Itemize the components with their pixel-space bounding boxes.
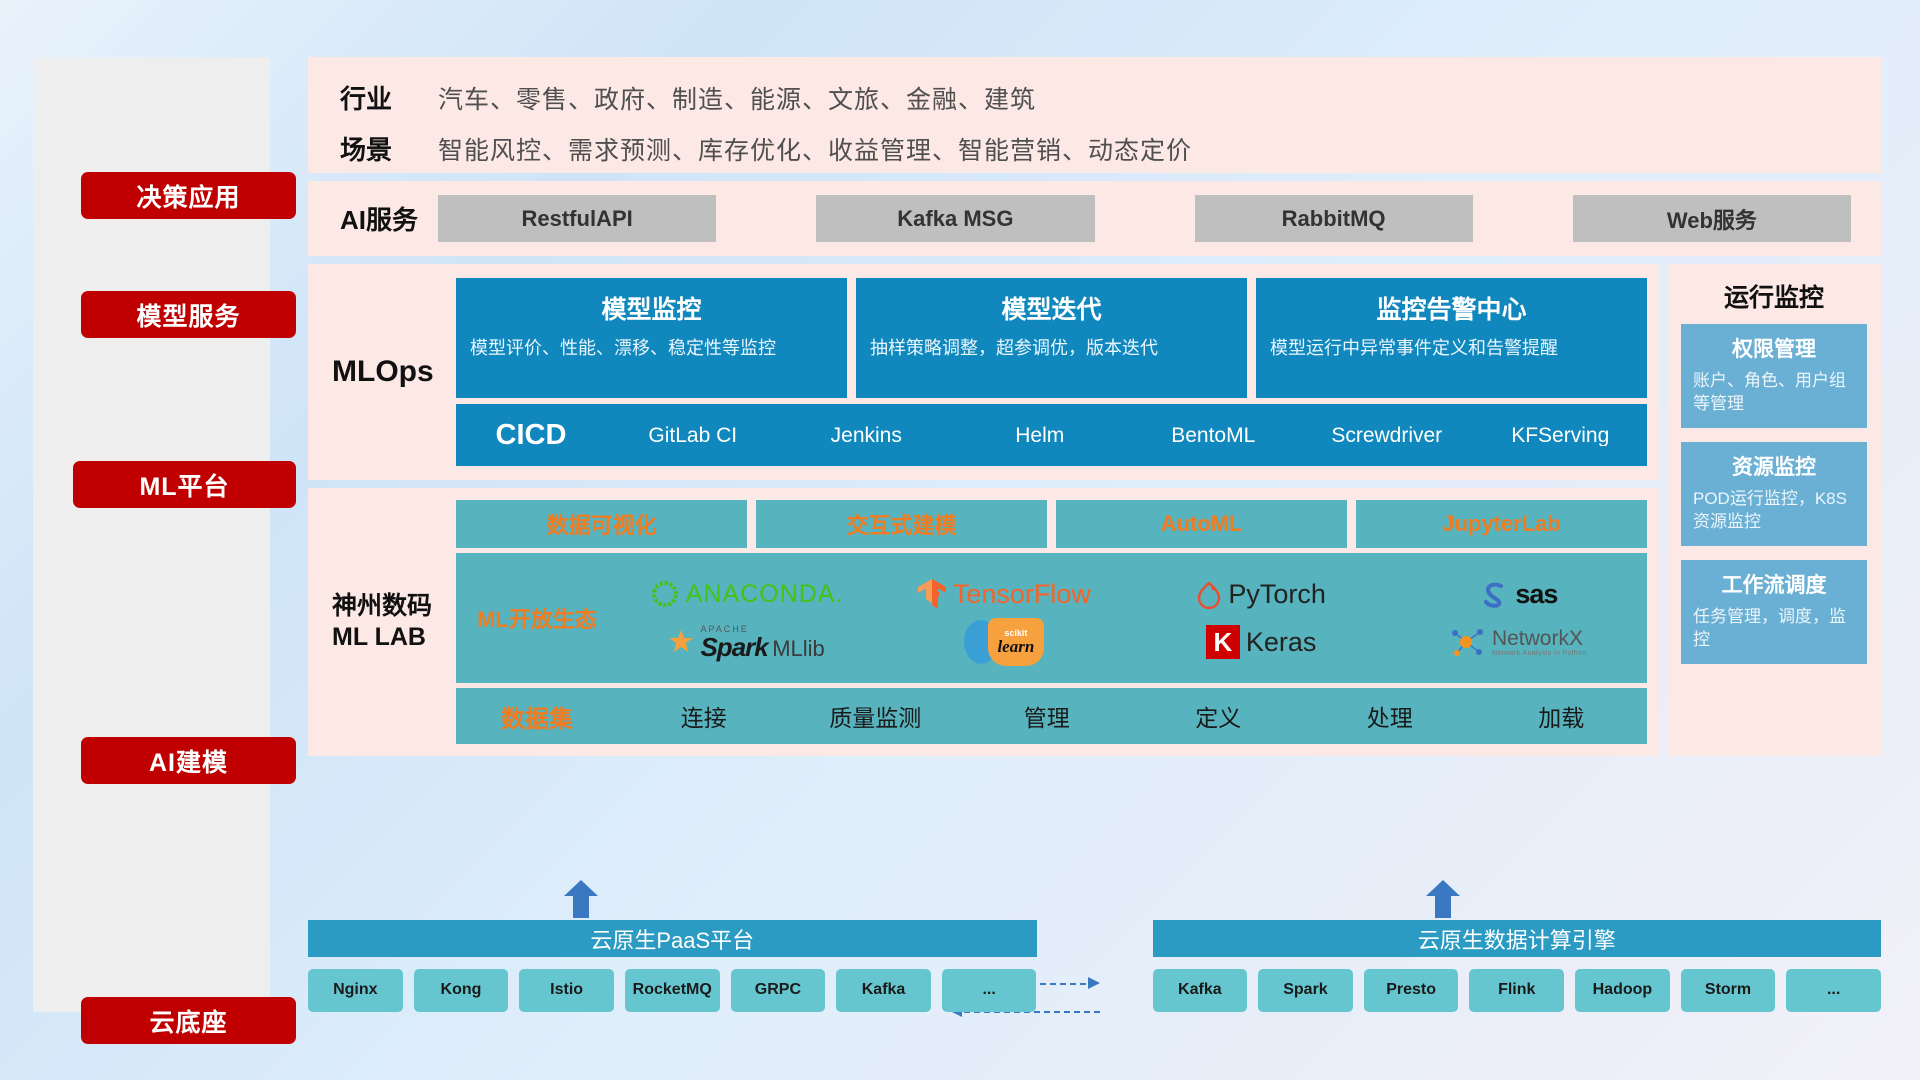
keras-logo: K Keras <box>1206 625 1317 659</box>
tool-interactive-modeling[interactable]: 交互式建模 <box>756 500 1047 548</box>
pytorch-logo: PyTorch <box>1196 579 1326 610</box>
dataset-title: 数据集 <box>456 699 618 734</box>
mlops-card-alert-center[interactable]: 监控告警中心 模型运行中异常事件定义和告警提醒 <box>1256 278 1647 398</box>
dataset-item-process[interactable]: 处理 <box>1304 699 1476 733</box>
scenario-value: 智能风控、需求预测、库存优化、收益管理、智能营销、动态定价 <box>438 131 1192 167</box>
pill-istio[interactable]: Istio <box>519 969 614 1012</box>
pill-flink[interactable]: Flink <box>1469 969 1564 1012</box>
cloud-bar-data-engine[interactable]: 云原生数据计算引擎 <box>1153 920 1882 957</box>
eco-label: ML开放生态 <box>456 602 618 634</box>
ml-lab-label: 神州数码 ML LAB <box>308 500 456 744</box>
rail-item-ml-platform[interactable]: ML平台 <box>73 461 296 508</box>
tensorflow-icon <box>917 578 947 610</box>
cicd-item-kfserving[interactable]: KFServing <box>1474 425 1648 446</box>
card-title: 监控告警中心 <box>1270 290 1633 326</box>
spark-mllib-logo: APACHE Spark MLlib <box>668 625 824 660</box>
pill-spark[interactable]: Spark <box>1258 969 1353 1012</box>
architecture-diagram: 决策应用 模型服务 ML平台 AI建模 云底座 行业 汽车、零售、政府、制造、能… <box>0 0 1920 1080</box>
scikit-orange-blob-icon: scikit learn <box>988 618 1044 666</box>
sas-icon <box>1479 579 1509 609</box>
paas-pill-list: Nginx Kong Istio RocketMQ GRPC Kafka ... <box>308 969 1037 1012</box>
dataset-item-manage[interactable]: 管理 <box>961 699 1133 733</box>
mlops-card-model-monitoring[interactable]: 模型监控 模型评价、性能、漂移、稳定性等监控 <box>456 278 847 398</box>
cicd-item-bentoml[interactable]: BentoML <box>1127 425 1301 446</box>
dataset-item-connect[interactable]: 连接 <box>618 699 790 733</box>
cloud-bar-list: 云原生PaaS平台 云原生数据计算引擎 <box>308 920 1881 957</box>
rail-item-label: ML平台 <box>139 467 229 503</box>
cicd-item-screwdriver[interactable]: Screwdriver <box>1300 425 1474 446</box>
rail-item-label: 模型服务 <box>136 297 240 333</box>
ai-service-box-rabbitmq[interactable]: RabbitMQ <box>1195 195 1473 242</box>
pill-hadoop[interactable]: Hadoop <box>1575 969 1670 1012</box>
learn-label: learn <box>997 638 1034 655</box>
scikit-learn-logo: scikit learn <box>964 618 1044 666</box>
networkx-logo: NetworkX Network Analysis in Python <box>1450 626 1587 658</box>
ai-modeling-band: 神州数码 ML LAB 数据可视化 交互式建模 AutoML JupyterLa… <box>308 488 1659 756</box>
card-desc: 任务管理，调度，监控 <box>1693 606 1855 652</box>
pill-kafka[interactable]: Kafka <box>836 969 931 1012</box>
rail-item-label: 云底座 <box>149 1003 227 1039</box>
arrow-up-engine-icon <box>1426 880 1460 918</box>
ai-service-box-web[interactable]: Web服务 <box>1573 195 1851 242</box>
runtime-monitor-panel: 运行监控 权限管理 账户、角色、用户组等管理 资源监控 POD运行监控，K8S资… <box>1667 264 1881 756</box>
platform-stack: MLOps 模型监控 模型评价、性能、漂移、稳定性等监控 模型迭代 抽样策略调整… <box>308 264 1659 756</box>
cicd-item-gitlab-ci[interactable]: GitLab CI <box>606 425 780 446</box>
ai-service-box-kafka-msg[interactable]: Kafka MSG <box>816 195 1094 242</box>
monitor-card-permission[interactable]: 权限管理 账户、角色、用户组等管理 <box>1681 324 1867 428</box>
tensorflow-logo: TensorFlow <box>917 578 1091 610</box>
pill-presto[interactable]: Presto <box>1364 969 1459 1012</box>
spark-star-icon <box>668 629 694 655</box>
decision-application-band: 行业 汽车、零售、政府、制造、能源、文旅、金融、建筑 场景 智能风控、需求预测、… <box>308 57 1881 173</box>
pill-more-right[interactable]: ... <box>1786 969 1881 1012</box>
mllib-label: MLlib <box>772 636 825 661</box>
spark-label: Spark <box>700 632 767 662</box>
rail-item-model-service[interactable]: 模型服务 <box>81 291 296 338</box>
pytorch-icon <box>1196 579 1222 609</box>
left-rail-panel: 决策应用 模型服务 ML平台 AI建模 云底座 <box>33 57 270 1012</box>
mlops-card-model-iteration[interactable]: 模型迭代 抽样策略调整，超参调优，版本迭代 <box>856 278 1247 398</box>
arrow-up-paas-icon <box>564 880 598 918</box>
dataset-item-list: 连接 质量监测 管理 定义 处理 加载 <box>618 699 1647 733</box>
dataset-item-define[interactable]: 定义 <box>1133 699 1305 733</box>
sas-label: sas <box>1515 579 1557 610</box>
pill-kafka-right[interactable]: Kafka <box>1153 969 1248 1012</box>
monitor-panel-title: 运行监控 <box>1667 264 1881 324</box>
card-title: 权限管理 <box>1693 333 1855 363</box>
card-title: 工作流调度 <box>1693 569 1855 599</box>
anaconda-logo: ANACONDA. <box>650 579 844 609</box>
pytorch-label: PyTorch <box>1228 579 1326 610</box>
keras-k-icon: K <box>1206 625 1240 659</box>
modeling-tool-list: 数据可视化 交互式建模 AutoML JupyterLab <box>456 500 1647 548</box>
dataset-item-load[interactable]: 加载 <box>1476 699 1648 733</box>
cloud-pill-rows: Nginx Kong Istio RocketMQ GRPC Kafka ...… <box>308 969 1881 1012</box>
card-title: 模型迭代 <box>870 290 1233 326</box>
card-desc: 抽样策略调整，超参调优，版本迭代 <box>870 336 1233 360</box>
dataset-item-quality[interactable]: 质量监测 <box>790 699 962 733</box>
rail-item-decision-app[interactable]: 决策应用 <box>81 172 296 219</box>
rail-item-cloud-base[interactable]: 云底座 <box>81 997 296 1044</box>
industry-key: 行业 <box>308 79 438 116</box>
scenario-key: 场景 <box>308 130 438 167</box>
tensorflow-label: TensorFlow <box>953 579 1091 610</box>
rail-item-ai-modeling[interactable]: AI建模 <box>81 737 296 784</box>
ai-service-box-restfulapi[interactable]: RestfulAPI <box>438 195 716 242</box>
tool-automl[interactable]: AutoML <box>1056 500 1347 548</box>
sas-logo: sas <box>1479 579 1557 610</box>
keras-label: Keras <box>1246 627 1317 658</box>
mlops-card-list: 模型监控 模型评价、性能、漂移、稳定性等监控 模型迭代 抽样策略调整，超参调优，… <box>456 278 1647 398</box>
eco-logo-grid: ANACONDA. TensorFlow <box>618 570 1647 666</box>
cloud-base-layer: 云原生PaaS平台 云原生数据计算引擎 Nginx Kong Istio Roc… <box>308 884 1881 1012</box>
monitor-card-resource[interactable]: 资源监控 POD运行监控，K8S资源监控 <box>1681 442 1867 546</box>
cicd-item-helm[interactable]: Helm <box>953 425 1127 446</box>
anaconda-icon <box>650 579 680 609</box>
main-column: 行业 汽车、零售、政府、制造、能源、文旅、金融、建筑 场景 智能风控、需求预测、… <box>308 57 1881 764</box>
industry-value: 汽车、零售、政府、制造、能源、文旅、金融、建筑 <box>438 80 1036 116</box>
pill-rocketmq[interactable]: RocketMQ <box>625 969 720 1012</box>
card-title: 资源监控 <box>1693 451 1855 481</box>
card-desc: POD运行监控，K8S资源监控 <box>1693 488 1855 534</box>
ai-service-band: AI服务 RestfulAPI Kafka MSG RabbitMQ Web服务 <box>308 181 1881 256</box>
networkx-tagline: Network Analysis in Python <box>1492 650 1587 658</box>
cicd-bar: CICD GitLab CI Jenkins Helm BentoML Scre… <box>456 404 1647 466</box>
mlops-label: MLOps <box>308 278 456 466</box>
ml-lab-line2: ML LAB <box>332 622 432 653</box>
card-desc: 模型运行中异常事件定义和告警提醒 <box>1270 336 1633 360</box>
anaconda-label: ANACONDA. <box>686 580 844 609</box>
scenario-row: 场景 智能风控、需求预测、库存优化、收益管理、智能营销、动态定价 <box>308 130 1881 167</box>
ai-service-label: AI服务 <box>308 200 438 237</box>
pill-nginx[interactable]: Nginx <box>308 969 403 1012</box>
ml-open-ecosystem: ML开放生态 ANACONDA. <box>456 553 1647 683</box>
card-desc: 账户、角色、用户组等管理 <box>1693 370 1855 416</box>
pill-kong[interactable]: Kong <box>414 969 509 1012</box>
mlops-band: MLOps 模型监控 模型评价、性能、漂移、稳定性等监控 模型迭代 抽样策略调整… <box>308 264 1659 480</box>
cicd-item-jenkins[interactable]: Jenkins <box>780 425 954 446</box>
tool-jupyterlab[interactable]: JupyterLab <box>1356 500 1647 548</box>
card-title: 模型监控 <box>470 290 833 326</box>
networkx-icon <box>1450 626 1486 658</box>
cloud-bar-paas[interactable]: 云原生PaaS平台 <box>308 920 1037 957</box>
cicd-item-list: GitLab CI Jenkins Helm BentoML Screwdriv… <box>606 425 1647 446</box>
dataset-bar: 数据集 连接 质量监测 管理 定义 处理 加载 <box>456 688 1647 744</box>
engine-pill-list: Kafka Spark Presto Flink Hadoop Storm ..… <box>1153 969 1882 1012</box>
monitor-card-workflow[interactable]: 工作流调度 任务管理，调度，监控 <box>1681 560 1867 664</box>
ml-lab-line1: 神州数码 <box>332 591 432 622</box>
industry-row: 行业 汽车、零售、政府、制造、能源、文旅、金融、建筑 <box>308 79 1881 116</box>
platform-and-monitor-row: MLOps 模型监控 模型评价、性能、漂移、稳定性等监控 模型迭代 抽样策略调整… <box>308 264 1881 756</box>
rail-item-label: AI建模 <box>149 743 228 779</box>
cicd-title: CICD <box>456 419 606 452</box>
ai-service-box-list: RestfulAPI Kafka MSG RabbitMQ Web服务 <box>438 195 1881 242</box>
pill-storm[interactable]: Storm <box>1681 969 1776 1012</box>
tool-data-visualization[interactable]: 数据可视化 <box>456 500 747 548</box>
networkx-label: NetworkX <box>1492 627 1587 650</box>
card-desc: 模型评价、性能、漂移、稳定性等监控 <box>470 336 833 360</box>
rail-item-label: 决策应用 <box>136 178 240 214</box>
pill-grpc[interactable]: GRPC <box>731 969 826 1012</box>
pill-more-left[interactable]: ... <box>942 969 1037 1012</box>
